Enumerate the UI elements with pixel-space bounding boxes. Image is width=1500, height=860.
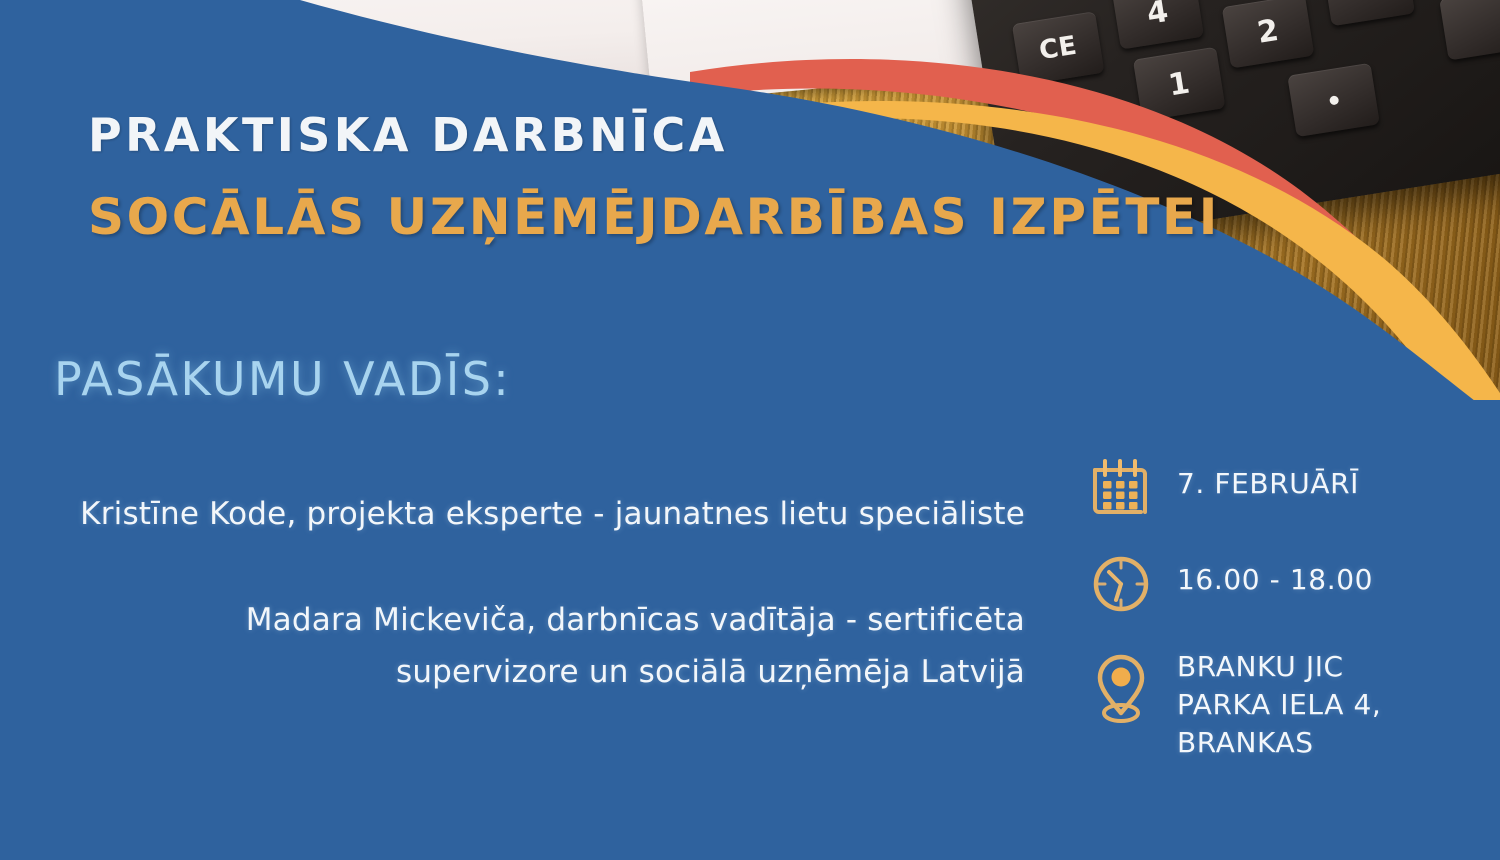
location-pin-icon — [1085, 652, 1157, 724]
speaker-1: Kristīne Kode, projekta eksperte - jauna… — [70, 488, 1025, 540]
title-line-1: PRAKTISKA DARBNĪCA — [88, 108, 1220, 162]
speaker-2: Madara Mickeviča, darbnīcas vadītāja - s… — [70, 594, 1025, 698]
detail-row-location: BRANKU JIC PARKA IELA 4, BRANKAS — [1085, 644, 1465, 762]
detail-text-time: 16.00 - 18.00 — [1157, 548, 1373, 598]
detail-row-time: 16.00 - 18.00 — [1085, 548, 1465, 620]
detail-row-date: 7. FEBRUĀRĪ — [1085, 452, 1465, 524]
title-line-2: SOCĀLĀS UZŅĒMĒJDARBĪBAS IZPĒTEI — [88, 188, 1220, 246]
subheading-hosts: PASĀKUMU VADĪS: — [54, 352, 511, 406]
detail-text-location: BRANKU JIC PARKA IELA 4, BRANKAS — [1157, 644, 1381, 762]
title-block: PRAKTISKA DARBNĪCA SOCĀLĀS UZŅĒMĒJDARBĪB… — [88, 108, 1220, 246]
event-details: 7. FEBRUĀRĪ 16.00 - 18.00 — [1085, 452, 1465, 786]
poster-content: PRAKTISKA DARBNĪCA SOCĀLĀS UZŅĒMĒJDARBĪB… — [0, 0, 1500, 860]
clock-icon — [1085, 548, 1157, 620]
poster-canvas: CE 4 1 2 3 + PRAKTISKA DARBNĪCA SOCĀLĀS … — [0, 0, 1500, 860]
detail-text-date: 7. FEBRUĀRĪ — [1157, 452, 1359, 502]
calendar-icon — [1085, 452, 1157, 524]
speakers-list: Kristīne Kode, projekta eksperte - jauna… — [70, 488, 1025, 698]
